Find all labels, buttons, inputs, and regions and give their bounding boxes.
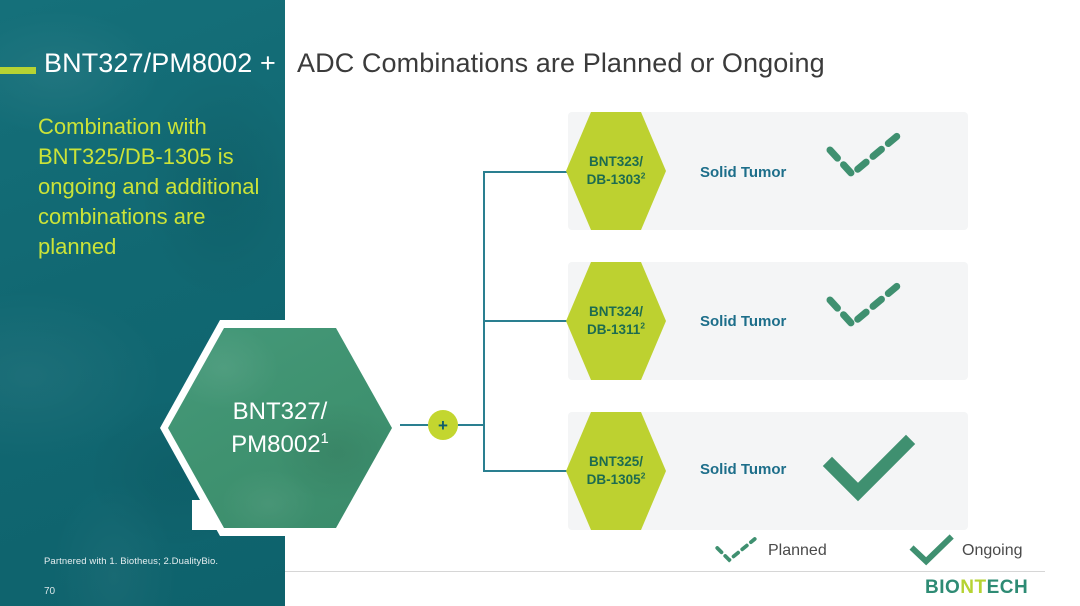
ongoing-check-icon-legend [910,536,954,566]
legend-label-planned: Planned [768,542,827,560]
connector-branch-2 [483,320,569,322]
title-accent-dash [0,67,36,74]
plus-node: + [428,410,458,440]
ongoing-check-icon-3 [826,438,912,502]
asset-hexagon-2[interactable]: BNT324/ DB-13112 [566,262,666,380]
asset-1-line2: DB-1303 [587,172,641,187]
legend-item-planned: Planned [712,536,827,566]
hub-label-line1: BNT327/ [233,398,328,425]
asset-2-line2: DB-1311 [587,322,640,337]
hub-hexagon-label: BNT327/ PM80021 [168,328,392,528]
asset-3-footnote-marker: 2 [641,471,646,481]
page-title-highlight: BNT327/PM8002 + [44,48,276,79]
logo-part-nt: NT [960,577,986,598]
asset-hexagon-1[interactable]: BNT323/ DB-13032 [566,112,666,230]
page-title: ADC Combinations are Planned or Ongoing [297,48,825,79]
planned-check-icon-1 [822,124,910,190]
asset-hexagon-1-label: BNT323/ DB-13032 [566,112,666,230]
logo-part-ech: ECH [987,577,1029,598]
planned-check-icon-legend [712,536,760,566]
biontech-logo: BIONTECH [925,577,1028,599]
hub-label-line2: PM8002 [231,431,320,458]
asset-hexagon-2-label: BNT324/ DB-13112 [566,262,666,380]
slide-root: BNT327/PM8002 + ADC Combinations are Pla… [0,0,1080,606]
legend-label-ongoing: Ongoing [962,542,1023,560]
asset-3-line2: DB-1305 [587,472,641,487]
asset-hexagon-3[interactable]: BNT325/ DB-13052 [566,412,666,530]
asset-1-line1: BNT323/ [589,154,643,169]
planned-check-icon-2 [822,274,910,340]
lead-copy: Combination with BNT325/DB-1305 is ongoi… [38,112,270,262]
asset-2-footnote-marker: 2 [640,321,645,331]
connector-branch-1 [483,171,569,173]
connector-plus-to-trunk [458,424,484,426]
legend-item-ongoing: Ongoing [910,536,1023,566]
asset-1-footnote-marker: 2 [641,171,646,181]
connector-hub-to-plus [400,424,428,426]
hub-hexagon: BNT327/ PM80021 [160,320,400,536]
footnote: Partnered with 1. Biotheus; 2.DualityBio… [44,556,218,567]
footer-divider [285,571,1045,572]
connector-trunk [483,172,485,472]
hub-label-footnote-marker: 1 [321,431,329,447]
logo-part-bio: BIO [925,577,960,598]
legend: Planned Ongoing [712,536,1052,570]
page-number: 70 [44,586,55,597]
asset-hexagon-3-label: BNT325/ DB-13052 [566,412,666,530]
connector-branch-3 [483,470,569,472]
asset-2-line1: BNT324/ [589,304,643,319]
asset-3-line1: BNT325/ [589,454,643,469]
